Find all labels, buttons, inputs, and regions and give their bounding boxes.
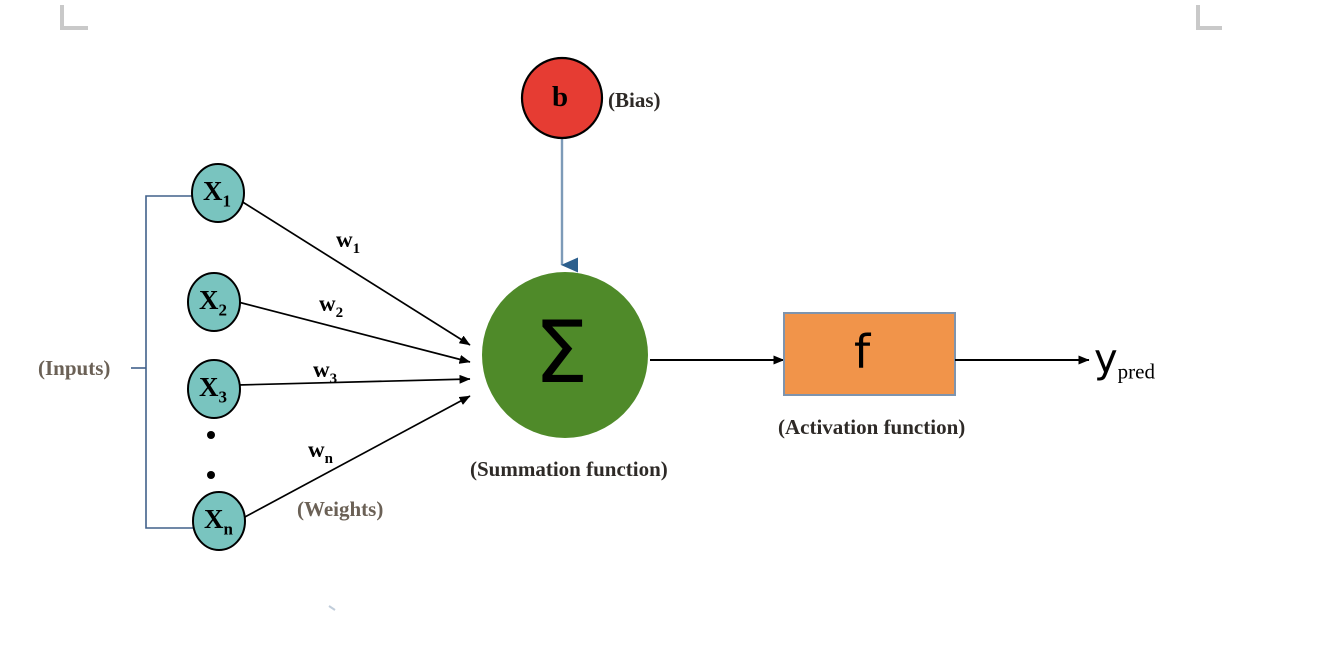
weight-line-1 bbox=[241, 201, 470, 345]
summation-sigma-glyph: Σ bbox=[534, 310, 588, 396]
weight-label-w1: w1 bbox=[336, 228, 360, 257]
weight-label-w2: w2 bbox=[319, 292, 343, 321]
weight-line-3 bbox=[238, 379, 470, 385]
weight-label-wn: wn bbox=[308, 438, 333, 467]
input-node-label-xn: Xn bbox=[204, 506, 233, 537]
output-label-ypred: ypred bbox=[1094, 339, 1155, 382]
crop-mark-top-right bbox=[1198, 5, 1222, 28]
weights-group-label: (Weights) bbox=[297, 499, 383, 520]
activation-caption: (Activation function) bbox=[778, 417, 965, 438]
input-node-label-x3: X3 bbox=[199, 374, 227, 405]
bias-caption: (Bias) bbox=[608, 90, 661, 111]
input-ellipsis-dots bbox=[207, 431, 215, 479]
weight-line-2 bbox=[238, 302, 470, 362]
inputs-bracket bbox=[131, 196, 208, 528]
input-node-label-x1: X1 bbox=[203, 178, 231, 209]
summation-caption: (Summation function) bbox=[470, 459, 668, 480]
input-node-label-x2: X2 bbox=[199, 287, 227, 318]
crop-mark-top-left bbox=[62, 5, 88, 28]
stray-artifact bbox=[329, 606, 335, 610]
neural-neuron-diagram: X1 X2 X3 Xn (Inputs) w1 w2 w3 wn (Weight… bbox=[0, 0, 1319, 668]
activation-f-glyph: f bbox=[854, 329, 870, 375]
bias-node-label: b bbox=[552, 83, 568, 112]
inputs-group-label: (Inputs) bbox=[38, 358, 110, 379]
weight-label-w3: w3 bbox=[313, 358, 337, 387]
